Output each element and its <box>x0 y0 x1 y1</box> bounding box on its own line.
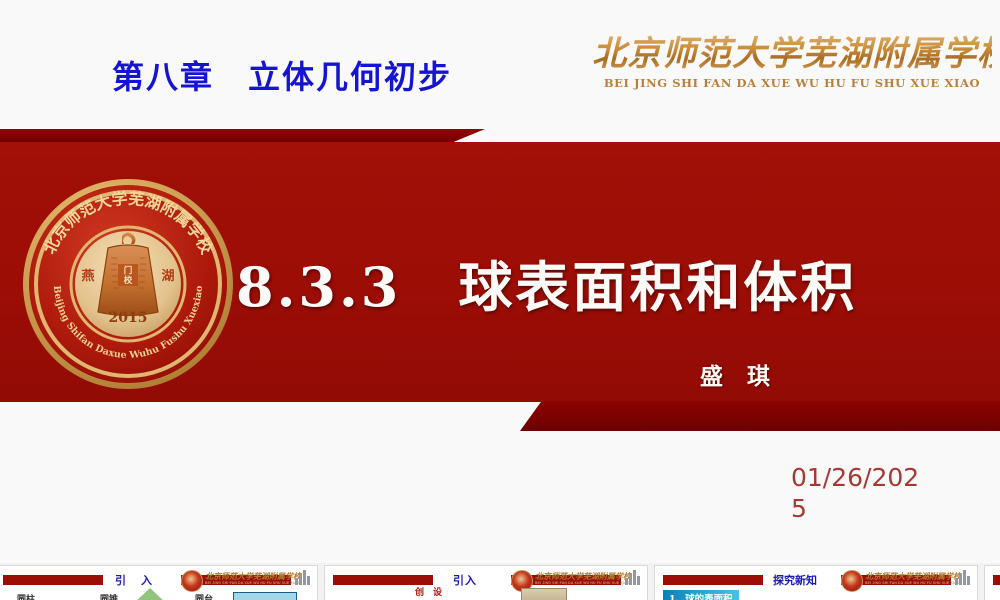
slide-thumbnail-strip[interactable]: 引 入 北京师范大学芜湖附属学校 BEI JING SHI FAN DA XUE… <box>0 563 1000 600</box>
thumb-rect-shape <box>233 592 297 600</box>
slide-date: 01/26/2025 <box>791 462 931 524</box>
main-title: 8.3.3 球表面积和体积 <box>236 243 857 322</box>
thumb-term-cone: 圆锥 <box>100 592 118 600</box>
thumb-bar-left <box>333 575 433 585</box>
thumb-triangle-shape <box>133 588 167 600</box>
thumb-term-frustum: 圆台 <box>195 592 213 600</box>
author-name: 盛 琪 <box>700 357 778 391</box>
slide-thumbnail[interactable] <box>984 565 1000 600</box>
thumb-bar-left <box>3 575 103 585</box>
svg-text:门: 门 <box>124 265 133 276</box>
thumb-bar-left <box>663 575 763 585</box>
thumb-school-en: BEI JING SHI FAN DA XUE WU HU FU SHU XUE… <box>535 581 630 585</box>
school-banner: 北京师范大学芜湖附属学校 BEI JING SHI FAN DA XUE WU … <box>592 34 992 90</box>
slide-thumbnail[interactable]: 引入 北京师范大学芜湖附属学校 BEI JING SHI FAN DA XUE … <box>324 565 648 600</box>
school-emblem: 门 校 燕 湖 2015 北京师范大学芜湖附属学校 Beijing Shifan… <box>22 178 234 390</box>
slide-canvas: 第八章 立体几何初步 北京师范大学芜湖附属学校 BEI JING SHI FAN… <box>0 0 1000 563</box>
banner-bottom-dark-strip <box>520 401 1000 431</box>
thumb-body: 圆柱 圆锥 圆台 <box>0 592 317 600</box>
svg-text:燕: 燕 <box>81 268 94 284</box>
thumb-building-icon <box>295 570 311 585</box>
slide-thumbnail[interactable]: 探究新知 北京师范大学芜湖附属学校 BEI JING SHI FAN DA XU… <box>654 565 978 600</box>
school-name-en: BEI JING SHI FAN DA XUE WU HU FU SHU XUE… <box>592 76 992 90</box>
thumb-school-en: BEI JING SHI FAN DA XUE WU HU FU SHU XUE… <box>205 581 300 585</box>
thumb-highlight-banner: 1、球的表面积 <box>663 590 739 600</box>
svg-text:湖: 湖 <box>161 269 174 284</box>
thumb-picture-placeholder <box>521 588 567 600</box>
slide-thumbnail[interactable]: 引 入 北京师范大学芜湖附属学校 BEI JING SHI FAN DA XUE… <box>0 565 318 600</box>
school-name-cn: 北京师范大学芜湖附属学校 <box>592 34 992 74</box>
thumb-building-icon <box>625 570 641 585</box>
svg-text:校: 校 <box>124 275 133 286</box>
thumb-school-en: BEI JING SHI FAN DA XUE WU HU FU SHU XUE… <box>865 581 960 585</box>
banner-top-dark-strip <box>0 129 485 143</box>
thumb-section-label: 引 入 <box>115 572 154 588</box>
thumb-term-cylinder: 圆柱 <box>17 592 35 600</box>
thumb-subtitle: 创 设 <box>415 585 442 598</box>
thumb-section-label: 探究新知 <box>773 572 817 588</box>
thumb-emblem-icon <box>841 570 863 592</box>
thumb-emblem-icon <box>181 570 203 592</box>
thumb-building-icon <box>955 570 971 585</box>
chapter-title: 第八章 立体几何初步 <box>112 52 452 98</box>
svg-text:2015: 2015 <box>109 310 148 326</box>
thumb-section-label: 引入 <box>453 572 477 588</box>
thumb-bar-left <box>993 575 1000 585</box>
